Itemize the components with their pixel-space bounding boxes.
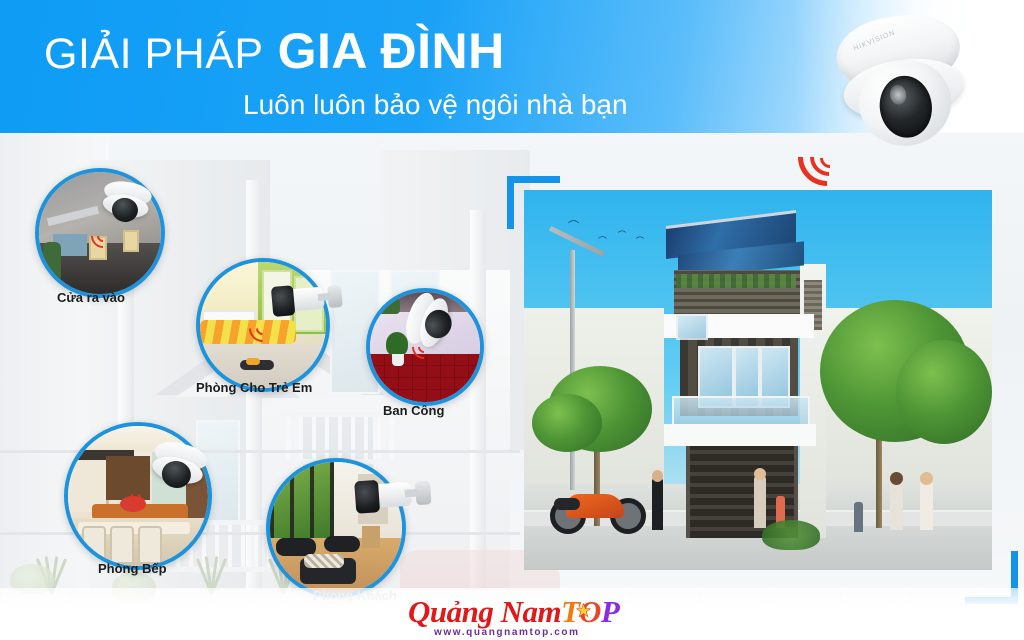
title-bold: GIA ĐÌNH xyxy=(278,23,505,79)
callout-label-entrance: Cửa ra vào xyxy=(57,290,125,305)
poster-canvas: ︵ ︵ ︵ ︵ xyxy=(0,0,1024,640)
page-title: GIẢI PHÁPGIA ĐÌNH xyxy=(44,22,505,80)
title-light: GIẢI PHÁP xyxy=(44,30,264,78)
logo-url: www.quangnamtop.com xyxy=(434,627,580,638)
signal-waves-icon xyxy=(792,128,852,188)
callout-circle-kids-room[interactable] xyxy=(196,258,330,392)
star-icon xyxy=(576,603,591,618)
photo-frame-corner-top-left xyxy=(507,176,560,229)
logo-letter-p: P xyxy=(601,594,619,629)
dome-camera-icon xyxy=(95,177,158,230)
bullet-camera-icon xyxy=(271,279,344,319)
logo-brand-text: Quảng Nam xyxy=(408,594,561,629)
site-logo[interactable]: Quảng NamTOP www.quangnamtop.com xyxy=(408,594,638,640)
house-exterior-photo: ︵ ︵ ︵ ︵ xyxy=(524,190,992,570)
callout-label-balcony: Ban Công xyxy=(383,403,444,418)
page-subtitle: Luôn luôn bảo vệ ngôi nhà bạn xyxy=(243,89,628,121)
bullet-camera-icon xyxy=(354,474,432,516)
callout-label-kids-room: Phòng Cho Trẻ Em xyxy=(196,380,312,395)
callout-label-kitchen: Phòng Bếp xyxy=(98,561,167,576)
